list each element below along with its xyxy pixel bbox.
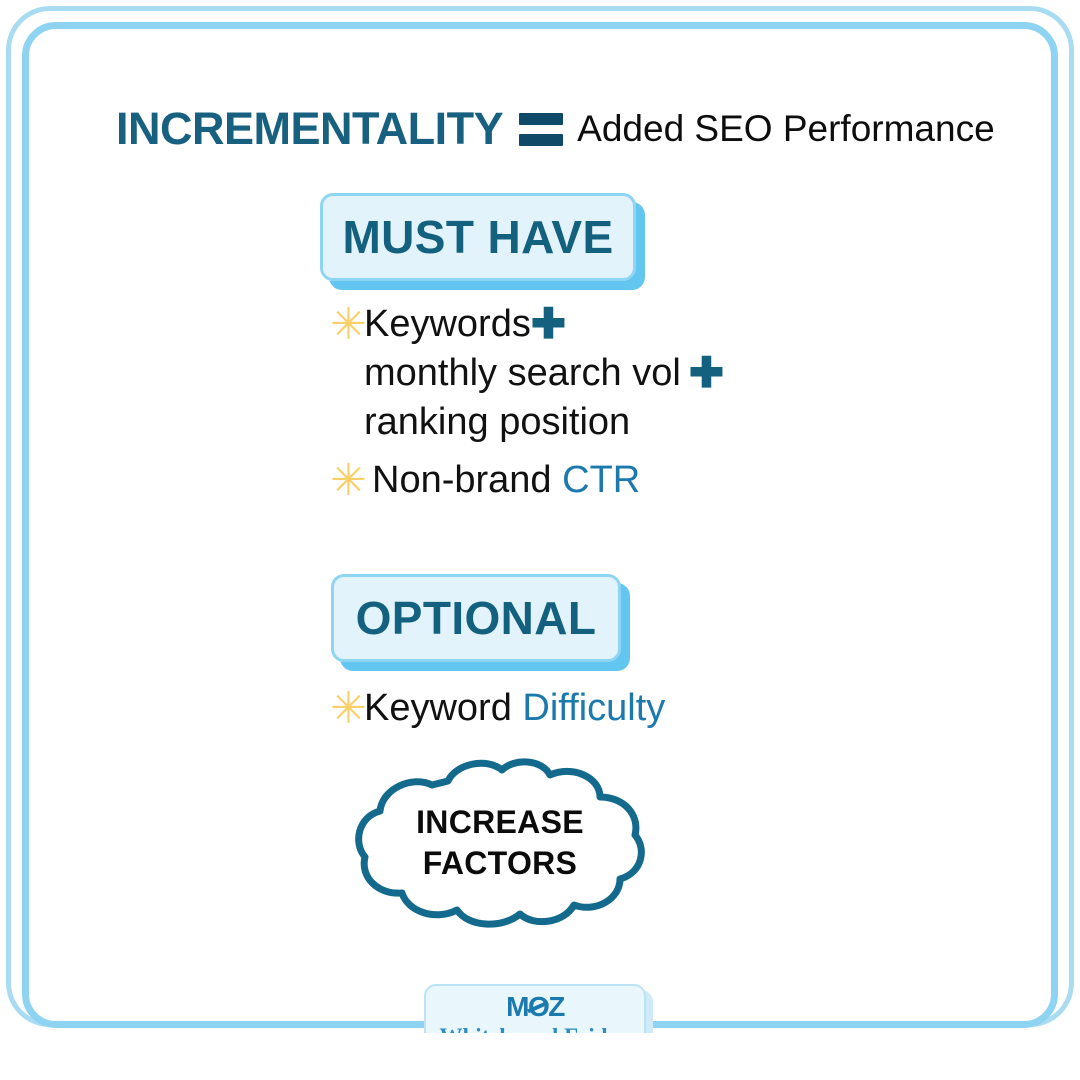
asterisk-icon: ✳: [330, 459, 364, 503]
section-chip-optional[interactable]: OPTIONAL: [331, 574, 621, 662]
list-item: ✳ Non-brand CTR: [330, 456, 724, 505]
plus-icon: ✚: [681, 352, 724, 394]
equals-icon: [519, 113, 563, 146]
list-item-text: Keyword: [364, 687, 522, 729]
section-chip-must-have[interactable]: MUST HAVE: [320, 193, 636, 281]
list-item-text: Keywords: [364, 303, 531, 345]
thought-cloud: INCREASE FACTORS: [352, 757, 648, 929]
cloud-line-2: FACTORS: [423, 845, 577, 882]
frame-bottom-mask: [0, 1033, 1080, 1080]
moz-logo-m: M: [506, 991, 528, 1022]
list-item-label: Keywords✚: [364, 300, 566, 349]
moz-logo-z: Z: [548, 991, 564, 1022]
page-title: INCREMENTALITY Added SEO Performance: [116, 106, 995, 151]
list-item-continuation: monthly search vol✚: [330, 349, 724, 398]
list-item-label: Keyword Difficulty: [364, 684, 665, 733]
asterisk-icon: ✳: [330, 687, 364, 731]
moz-logo-wordmark: MOZ: [506, 993, 564, 1021]
cloud-line-1: INCREASE: [416, 804, 584, 841]
list-item-text: ranking position: [364, 398, 630, 447]
plus-icon: ✚: [531, 303, 566, 345]
whiteboard-canvas: INCREMENTALITY Added SEO Performance MUS…: [0, 0, 1080, 1080]
bullet-group-optional: ✳ Keyword Difficulty: [330, 684, 665, 733]
list-item-label: Non-brand CTR: [364, 456, 640, 505]
bullet-group-must-have: ✳ Keywords✚ monthly search vol✚ ranking …: [330, 300, 724, 505]
section-chip-label: OPTIONAL: [356, 595, 597, 641]
section-chip-label: MUST HAVE: [342, 214, 613, 260]
list-item-accent-text: CTR: [562, 459, 640, 501]
list-item-text: Non-brand: [372, 459, 562, 501]
list-item-text: monthly search vol: [364, 352, 681, 394]
list-item: ✳ Keyword Difficulty: [330, 684, 665, 733]
list-item-label: monthly search vol✚: [364, 349, 724, 398]
page-title-text: INCREMENTALITY: [116, 106, 503, 151]
list-item-continuation: ranking position: [330, 398, 724, 447]
list-item: ✳ Keywords✚: [330, 300, 724, 349]
list-item-accent-text: Difficulty: [522, 687, 665, 729]
thought-cloud-text: INCREASE FACTORS: [352, 757, 648, 929]
moz-logo-o: O: [528, 993, 548, 1021]
page-subtitle-text: Added SEO Performance: [577, 110, 995, 147]
asterisk-icon: ✳: [330, 303, 364, 347]
